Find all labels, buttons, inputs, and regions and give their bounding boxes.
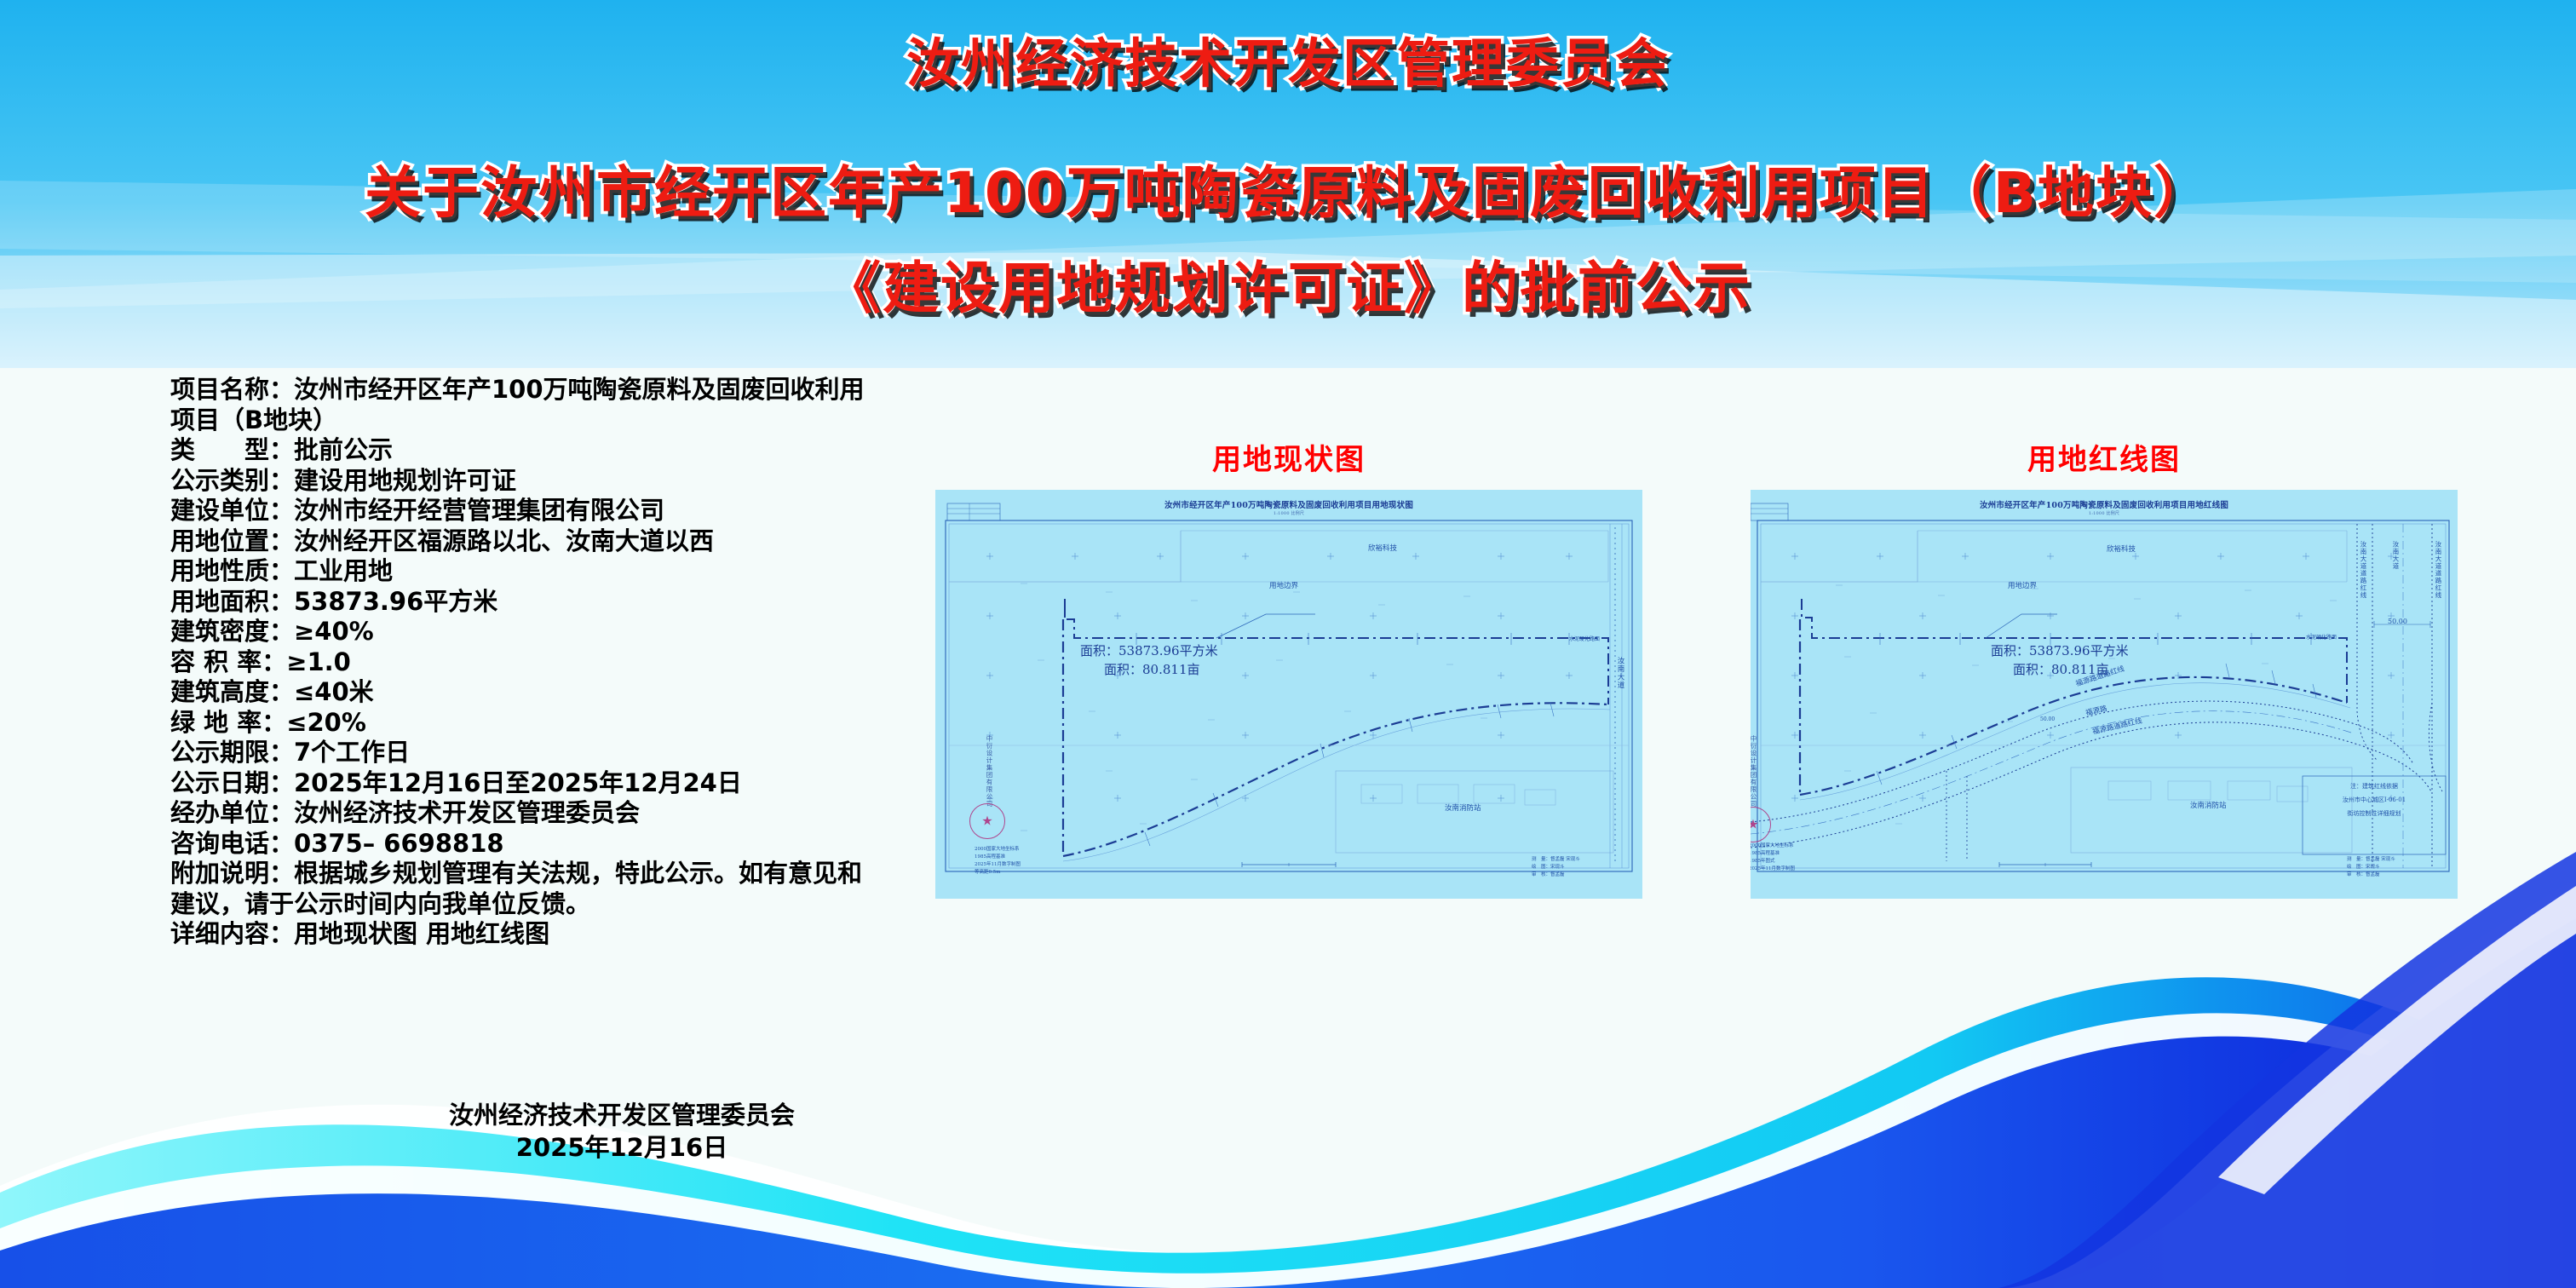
map-left-credit-line: 审 核：督孟磊 bbox=[1532, 871, 1580, 879]
map-left-credit-line: 测 量：督孟磊 宋现斗 bbox=[1532, 856, 1580, 864]
map-right-east-note: 水泥硬化路面 bbox=[2306, 633, 2337, 641]
map-right-road-width-inline: 50.00 bbox=[2040, 716, 2055, 722]
detail-line: 绿 地 率：≤20% bbox=[170, 708, 937, 739]
map-left-boundary-label: 用地边界 bbox=[1269, 580, 1298, 590]
detail-line: 用地面积：53873.96平方米 bbox=[170, 587, 937, 618]
map-right-neighbor-north: 欣裕科技 bbox=[2107, 543, 2136, 554]
map-right-legend-line: 2025年11月数字制图 bbox=[1751, 865, 1795, 873]
map-right-credits: 测 量：督孟磊 宋现斗绘 图：宋现斗审 核：督孟磊 bbox=[2347, 856, 2395, 879]
map-right-legend: 2000国家大地坐标系1985高程基准1985年图式2025年11月数字制图 bbox=[1751, 842, 1795, 873]
map-right-drawing bbox=[1751, 490, 2458, 899]
detail-line: 附加说明：根据城乡规划管理有关法规，特此公示。如有意见和 bbox=[170, 859, 937, 889]
detail-line: 建设单位：汝州市经开经营管理集团有限公司 bbox=[170, 496, 937, 526]
map-right-note-line: 汝州市中心城区I-06-01 bbox=[2304, 793, 2444, 807]
map-right-boundary-label: 用地边界 bbox=[2008, 580, 2037, 590]
map-left-legend-line: 2000国家大地坐标系 bbox=[975, 846, 1021, 854]
map-left-east-note: 水泥硬化路面 bbox=[1569, 635, 1600, 642]
map-left-drawing bbox=[935, 490, 1642, 899]
detail-line: 建筑密度：≥40% bbox=[170, 617, 937, 647]
map-left-legend-line: 1985高程基准 bbox=[975, 854, 1021, 861]
map-right-note-line: 街坊控制性详细规划 bbox=[2304, 807, 2444, 820]
map-right-legend-line: 2000国家大地坐标系 bbox=[1751, 842, 1795, 850]
map-red-line: 用地红线图 bbox=[1751, 436, 2458, 899]
detail-line: 公示日期：2025年12月16日至2025年12月24日 bbox=[170, 768, 937, 799]
map-right-area-sqm: 面积：53873.96平方米 bbox=[1991, 641, 2129, 659]
detail-line: 容 积 率：≥1.0 bbox=[170, 647, 937, 678]
map-right-designer-stamp: 中衍设计集团有限公司 bbox=[1751, 735, 1758, 808]
map-right-note-line: 注：建筑红线依据 bbox=[2304, 779, 2444, 793]
map-right-heading: 用地红线图 bbox=[1751, 436, 2458, 478]
map-left-heading: 用地现状图 bbox=[935, 436, 1642, 478]
map-right-road-width: 50.00 bbox=[2388, 618, 2407, 625]
map-right-caption: 汝州市经开区年产100万吨陶瓷原料及固废回收利用项目用地红线图 1:1000 比… bbox=[1751, 498, 2458, 516]
announcement-details: 项目名称：汝州市经开区年产100万吨陶瓷原料及固废回收利用项目（B地块）类 型：… bbox=[170, 375, 937, 950]
signature-issuer: 汝州经济技术开发区管理委员会 bbox=[170, 1099, 1073, 1131]
map-left-legend-line: 2025年11月数字制图 bbox=[975, 861, 1021, 869]
map-right-legend-line: 1985高程基准 bbox=[1751, 850, 1795, 858]
map-current-status: 用地现状图 bbox=[935, 436, 1642, 899]
map-left-official-seal: ★ bbox=[969, 803, 1005, 839]
map-left-credits: 测 量：督孟磊 宋现斗绘 图：宋现斗审 核：督孟磊 bbox=[1532, 856, 1580, 879]
map-left-road-east: 汝南大道 bbox=[1615, 657, 1625, 689]
map-left-area-mu: 面积：80.811亩 bbox=[1104, 660, 1200, 678]
map-right-east-road-name: 汝南大道 bbox=[2391, 541, 2401, 570]
detail-line: 公示期限：7个工作日 bbox=[170, 738, 937, 768]
detail-line: 用地性质：工业用地 bbox=[170, 556, 937, 587]
detail-line: 项目名称：汝州市经开区年产100万吨陶瓷原料及固废回收利用 bbox=[170, 375, 937, 405]
map-right-credit-line: 绘 图：宋现斗 bbox=[2347, 864, 2395, 871]
map-left-panel[interactable]: 汝州市经开区年产100万吨陶瓷原料及固废回收利用项目用地现状图 1:1000 比… bbox=[935, 490, 1642, 899]
map-left-credit-line: 绘 图：宋现斗 bbox=[1532, 864, 1580, 871]
detail-line: 类 型：批前公示 bbox=[170, 435, 937, 466]
map-right-east-redline-left: 汝南大道道路红线 bbox=[2359, 541, 2368, 599]
map-right-note-box: 注：建筑红线依据汝州市中心城区I-06-01街坊控制性详细规划 bbox=[2304, 779, 2444, 820]
map-right-east-redline-right: 汝南大道道路红线 bbox=[2434, 541, 2443, 599]
map-right-caption-sub: 1:1000 比例尺 bbox=[1751, 510, 2458, 516]
map-right-legend-line: 1985年图式 bbox=[1751, 858, 1795, 865]
map-left-neighbor-south: 汝南消防站 bbox=[1445, 802, 1481, 813]
map-left-legend: 2000国家大地坐标系1985高程基准2025年11月数字制图等高距0.5m bbox=[975, 846, 1021, 877]
signature-date: 2025年12月16日 bbox=[170, 1131, 1073, 1164]
detail-line: 用地位置：汝州经开区福源路以北、汝南大道以西 bbox=[170, 526, 937, 557]
map-left-designer-stamp: 中衍设计集团有限公司 bbox=[985, 735, 994, 808]
detail-line: 公示类别：建设用地规划许可证 bbox=[170, 466, 937, 497]
map-right-neighbor-south: 汝南消防站 bbox=[2190, 800, 2227, 810]
detail-line: 详细内容：用地现状图 用地红线图 bbox=[170, 919, 937, 950]
detail-line: 经办单位：汝州经济技术开发区管理委员会 bbox=[170, 798, 937, 829]
map-left-neighbor-north: 欣裕科技 bbox=[1368, 543, 1397, 553]
map-left-caption-sub: 1:1000 比例尺 bbox=[935, 510, 1642, 516]
detail-line: 建议，请于公示时间内向我单位反馈。 bbox=[170, 889, 937, 920]
detail-line: 项目（B地块） bbox=[170, 405, 937, 436]
map-right-panel[interactable]: 汝州市经开区年产100万吨陶瓷原料及固废回收利用项目用地红线图 1:1000 比… bbox=[1751, 490, 2458, 899]
signature-block: 汝州经济技术开发区管理委员会 2025年12月16日 bbox=[170, 1099, 1073, 1164]
detail-line: 建筑高度：≤40米 bbox=[170, 677, 937, 708]
map-left-area-sqm: 面积：53873.96平方米 bbox=[1080, 641, 1218, 659]
map-left-caption: 汝州市经开区年产100万吨陶瓷原料及固废回收利用项目用地现状图 1:1000 比… bbox=[935, 498, 1642, 516]
map-left-legend-line: 等高距0.5m bbox=[975, 869, 1021, 877]
detail-line: 咨询电话：0375– 6698818 bbox=[170, 829, 937, 860]
map-right-credit-line: 测 量：督孟磊 宋现斗 bbox=[2347, 856, 2395, 864]
map-right-credit-line: 审 核：督孟磊 bbox=[2347, 871, 2395, 879]
